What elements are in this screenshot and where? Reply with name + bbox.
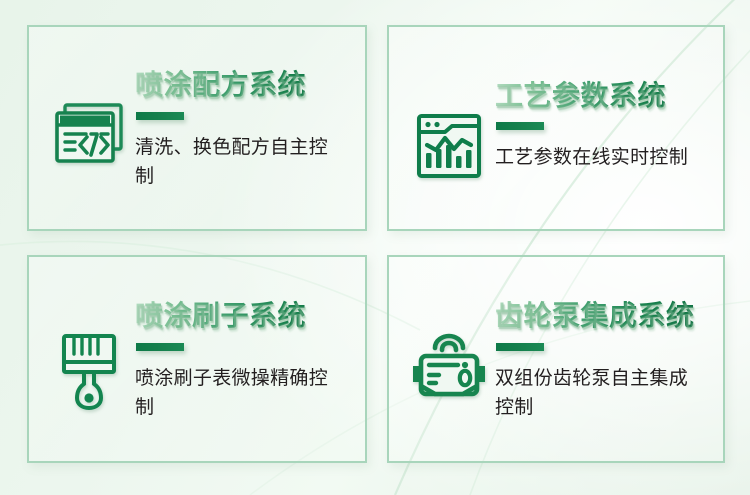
card-description: 双组份齿轮泵自主集成控制 [495,364,700,422]
chart-window-icon [403,76,495,180]
card-content: 工艺参数系统 工艺参数在线实时控制 [495,76,723,172]
card-inner: 工艺参数系统 工艺参数在线实时控制 [389,76,723,180]
code-window-icon [43,65,135,167]
card-title: 喷涂刷子系统 [135,300,357,331]
card-title: 喷涂配方系统 [135,69,357,100]
card-content: 喷涂配方系统 清洗、换色配方自主控制 [135,65,365,190]
title-divider [136,343,184,351]
title-divider [496,343,544,351]
card-content: 喷涂刷子系统 喷涂刷子表微操精确控制 [135,296,365,421]
card-content: 齿轮泵集成系统 双组份齿轮泵自主集成控制 [495,296,723,421]
title-divider [496,122,544,130]
card-title: 齿轮泵集成系统 [495,300,715,331]
card-process-parameter-system[interactable]: 工艺参数系统 工艺参数在线实时控制 [387,25,725,231]
card-description: 喷涂刷子表微操精确控制 [135,364,340,422]
card-description: 清洗、换色配方自主控制 [135,133,340,191]
card-gear-pump-integration-system[interactable]: 齿轮泵集成系统 双组份齿轮泵自主集成控制 [387,255,725,463]
card-spray-brush-system[interactable]: 喷涂刷子系统 喷涂刷子表微操精确控制 [27,255,367,463]
cards-grid: 喷涂配方系统 清洗、换色配方自主控制 [0,0,750,495]
card-inner: 喷涂配方系统 清洗、换色配方自主控制 [29,65,365,190]
card-spray-formula-system[interactable]: 喷涂配方系统 清洗、换色配方自主控制 [27,25,367,231]
robot-icon [403,296,495,404]
card-inner: 喷涂刷子系统 喷涂刷子表微操精确控制 [29,296,365,421]
card-inner: 齿轮泵集成系统 双组份齿轮泵自主集成控制 [389,296,723,421]
card-title: 工艺参数系统 [495,80,715,111]
paint-brush-icon [43,296,135,412]
feature-card-grid-page: 喷涂配方系统 清洗、换色配方自主控制 [0,0,750,495]
title-divider [136,112,184,120]
card-description: 工艺参数在线实时控制 [495,143,700,172]
